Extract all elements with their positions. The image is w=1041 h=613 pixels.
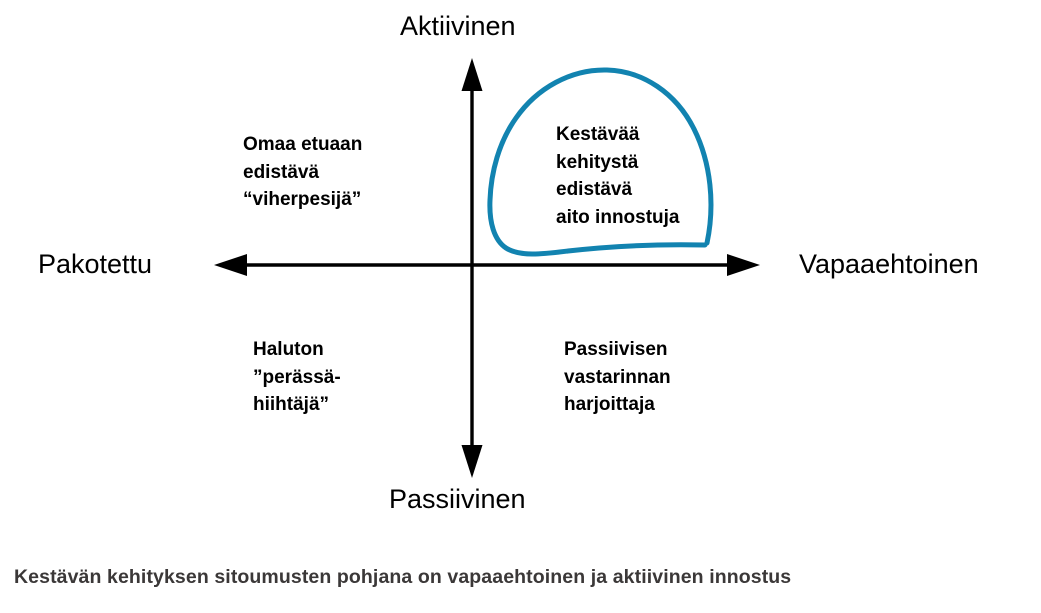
quadrant-label-upper-right: Kestävää kehitystä edistävä aito innostu…	[556, 121, 680, 231]
axis-label-right: Vapaaehtoinen	[799, 250, 979, 280]
axis-label-left: Pakotettu	[38, 250, 152, 280]
quadrant-label-lower-left: Haluton ”perässä- hiihtäjä”	[253, 336, 341, 419]
arrow-up-icon	[462, 58, 483, 91]
quadrant-diagram: Aktiivinen Passiivinen Pakotettu Vapaaeh…	[0, 0, 1041, 613]
vertical-axis	[462, 58, 483, 478]
axis-label-top: Aktiivinen	[400, 12, 516, 42]
caption-text: Kestävän kehityksen sitoumusten pohjana …	[14, 566, 1034, 589]
arrow-right-icon	[727, 254, 760, 276]
quadrant-label-lower-right: Passiivisen vastarinnan harjoittaja	[564, 336, 671, 419]
quadrant-label-upper-left: Omaa etuaan edistävä “viherpesijä”	[243, 131, 362, 214]
axes-and-highlight-svg	[0, 0, 1041, 613]
arrow-down-icon	[462, 445, 483, 478]
horizontal-axis	[214, 254, 760, 276]
axis-label-bottom: Passiivinen	[389, 485, 526, 515]
arrow-left-icon	[214, 254, 247, 276]
